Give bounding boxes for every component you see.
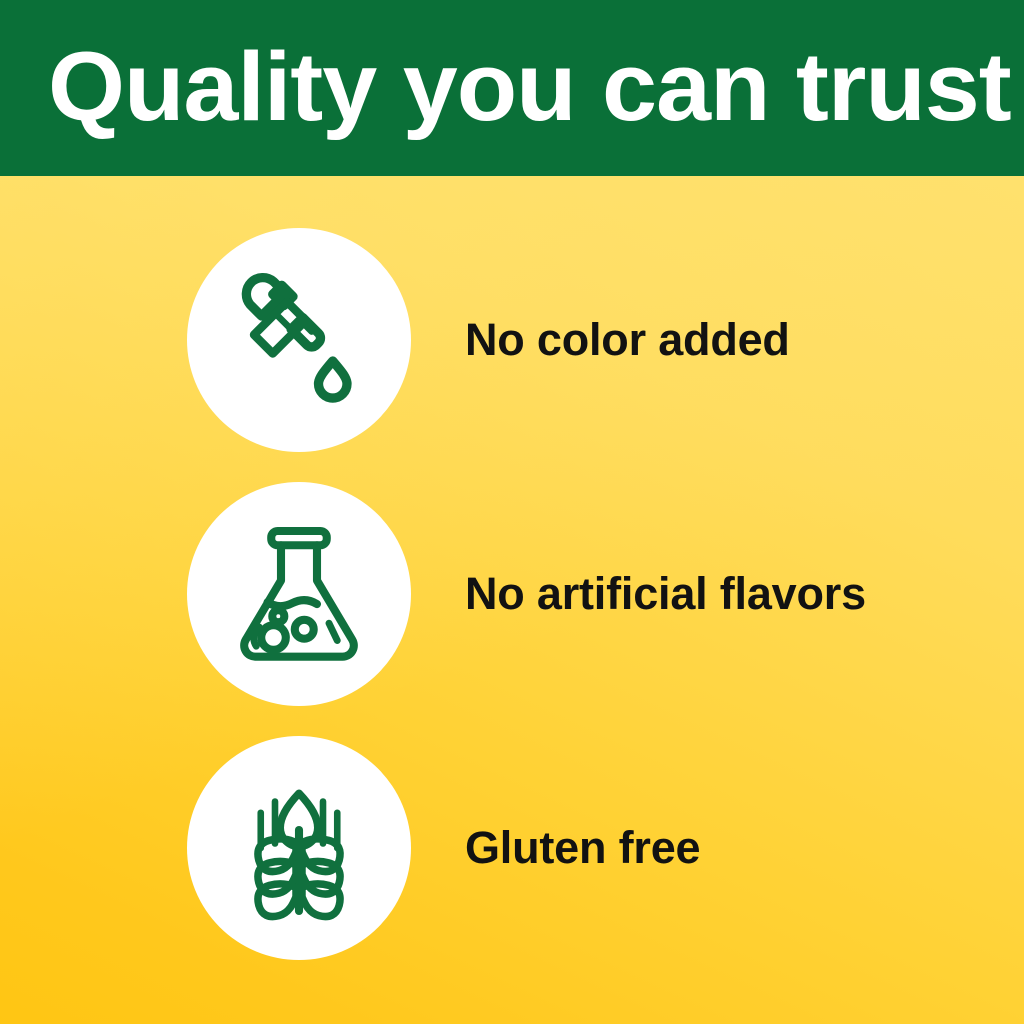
icon-badge [187, 736, 411, 960]
feature-row: No artificial flavors [0, 482, 1024, 706]
feature-row: Gluten free [0, 736, 1024, 960]
feature-label: No artificial flavors [465, 568, 866, 620]
icon-badge [187, 228, 411, 452]
dropper-icon [224, 265, 374, 415]
quality-claims-poster: Quality you can trust [0, 0, 1024, 1024]
header-band: Quality you can trust [0, 0, 1024, 176]
page-title: Quality you can trust [48, 28, 1024, 146]
feature-row: No color added [0, 228, 1024, 452]
feature-label: Gluten free [465, 822, 700, 874]
flask-icon [224, 519, 374, 669]
feature-list: No color added [0, 176, 1024, 1024]
wheat-icon [224, 773, 374, 923]
feature-label: No color added [465, 314, 790, 366]
icon-badge [187, 482, 411, 706]
